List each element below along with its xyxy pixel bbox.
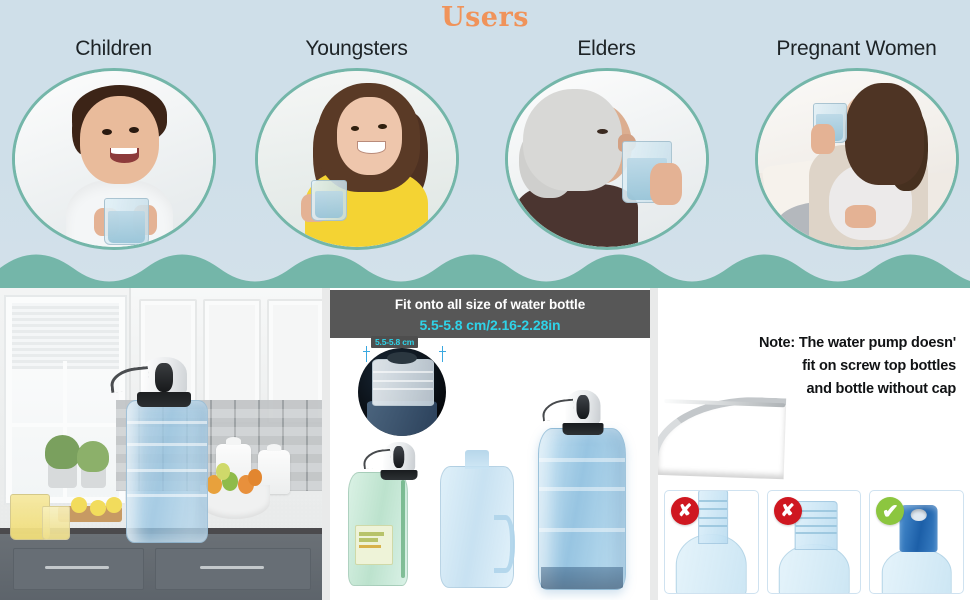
compatibility-thumbnails: ✘ ✘ ✔: [664, 490, 964, 594]
bottle-large-with-pump: [538, 428, 626, 590]
kitchen-lifestyle-photo: [0, 288, 322, 600]
chrome-spout-icon: [658, 394, 786, 480]
note-line-3: and bottle without cap: [672, 378, 956, 401]
user-card-children: Children: [6, 36, 221, 250]
thumb-blue-cap-bottle: ✔: [869, 490, 964, 594]
note-line-2: fit on screw top bottles: [672, 355, 956, 378]
avatar-pregnant-women: [755, 68, 959, 250]
users-section: Users Children: [0, 0, 970, 288]
fit-sizes-panel: Fit onto all size of water bottle 5.5-5.…: [330, 288, 650, 600]
infographic-page: Users Children: [0, 0, 970, 600]
photo-boy-holding-glass: [15, 71, 213, 247]
thumb-screw-top-bottle-narrow: ✘: [664, 490, 759, 594]
photo-pregnant-woman-drinking: [758, 71, 956, 247]
user-card-elders: Elders: [499, 36, 714, 250]
user-label-pregnant-women: Pregnant Women: [749, 36, 964, 62]
bottom-section: Fit onto all size of water bottle 5.5-5.…: [0, 288, 970, 600]
thumb-bottle-without-cap: ✘: [767, 490, 862, 594]
avatar-elders: [505, 68, 709, 250]
note-line-1: Note: The water pump doesn': [672, 332, 956, 355]
pump-on-large-jug: [558, 390, 608, 436]
water-jug: [126, 400, 209, 542]
bottle-medium-handled: [440, 466, 514, 588]
badge-incompatible-1: ✘: [671, 497, 699, 525]
wave-divider: [0, 246, 970, 288]
user-card-pregnant-women: Pregnant Women: [749, 36, 964, 250]
user-label-children: Children: [6, 36, 221, 62]
user-card-youngsters: Youngsters: [249, 36, 464, 250]
badge-incompatible-2: ✘: [774, 497, 802, 525]
user-label-youngsters: Youngsters: [249, 36, 464, 62]
photo-elderly-woman-drinking: [508, 71, 706, 247]
avatar-children: [12, 68, 216, 250]
photo-young-woman-with-glass: [258, 71, 456, 247]
page-title: Users: [0, 2, 970, 33]
note-text: Note: The water pump doesn' fit on screw…: [672, 332, 970, 401]
user-label-elders: Elders: [499, 36, 714, 62]
avatar-youngsters: [255, 68, 459, 250]
water-pump-device: [132, 357, 196, 407]
compatibility-note-panel: Note: The water pump doesn' fit on screw…: [658, 288, 970, 600]
